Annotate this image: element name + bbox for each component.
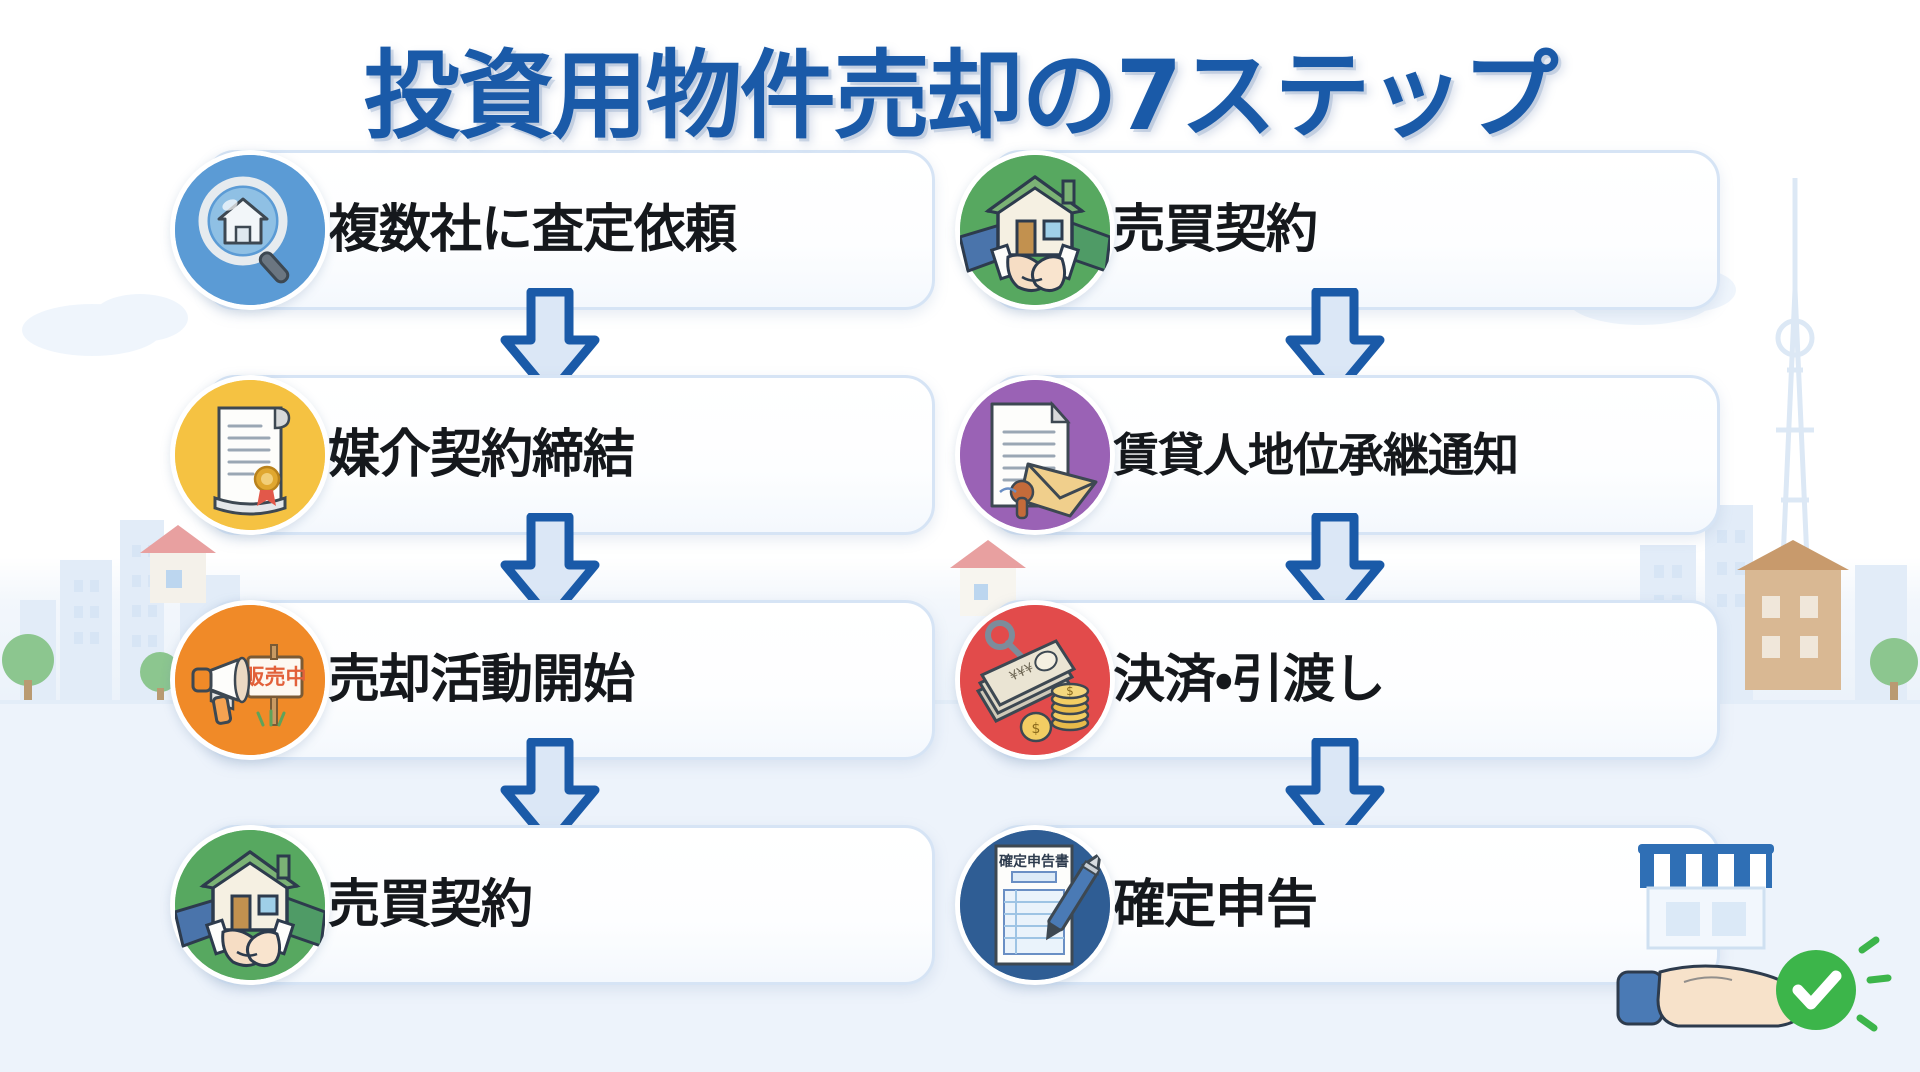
left-column: 複数社に査定依頼 [205, 150, 935, 985]
shop-hand-check-mascot [1608, 822, 1898, 1062]
handshake-house-icon [955, 150, 1115, 310]
step-card-1[interactable]: 複数社に査定依頼 [205, 150, 935, 310]
step-card-2[interactable]: 媒介契約締結 [205, 375, 935, 535]
flow-arrow-5 [990, 310, 1720, 375]
flow-arrow-3 [205, 760, 935, 825]
tax-form-title-text: 確定申告書 [998, 853, 1069, 870]
step-label-7: 決済・引渡し [1113, 654, 1385, 706]
flow-arrow-2 [205, 535, 935, 600]
flow-arrow-7 [990, 760, 1720, 825]
step-card-4[interactable]: 売買契約 [205, 825, 935, 985]
tax-form-pen-icon: 確定申告書 [955, 825, 1115, 985]
step-card-3[interactable]: 販売中 売却活動開始 [205, 600, 935, 760]
step-label-6: 賃貸人地位承継通知 [1113, 432, 1518, 478]
page-title: 投資用物件売却の7ステップ [0, 18, 1920, 157]
document-envelope-stamp-icon [955, 375, 1115, 535]
step-label-2: 媒介契約締結 [328, 429, 634, 481]
forsale-sign-text: 販売中 [244, 665, 307, 689]
cash-coins-icon: ¥¥¥ $ $ [955, 600, 1115, 760]
step-card-5[interactable]: 売買契約 [990, 150, 1720, 310]
magnifier-house-icon [170, 150, 330, 310]
step-label-4: 売買契約 [328, 879, 532, 931]
megaphone-forsale-sign-icon: 販売中 [170, 600, 330, 760]
step-label-8: 確定申告 [1113, 879, 1317, 931]
flow-arrow-1 [205, 310, 935, 375]
step-label-3: 売却活動開始 [328, 654, 634, 706]
step-label-1: 複数社に査定依頼 [328, 204, 736, 256]
handshake-house-icon [170, 825, 330, 985]
step-card-6[interactable]: 賃貸人地位承継通知 [990, 375, 1720, 535]
svg-text:$: $ [1032, 721, 1041, 737]
page-title-text: 投資用物件売却の7ステップ [364, 40, 1557, 152]
svg-text:$: $ [1066, 684, 1074, 698]
step-card-7[interactable]: ¥¥¥ $ $ 決済・引渡し [990, 600, 1720, 760]
contract-scroll-seal-icon [170, 375, 330, 535]
step-label-5: 売買契約 [1113, 204, 1317, 256]
flow-arrow-6 [990, 535, 1720, 600]
